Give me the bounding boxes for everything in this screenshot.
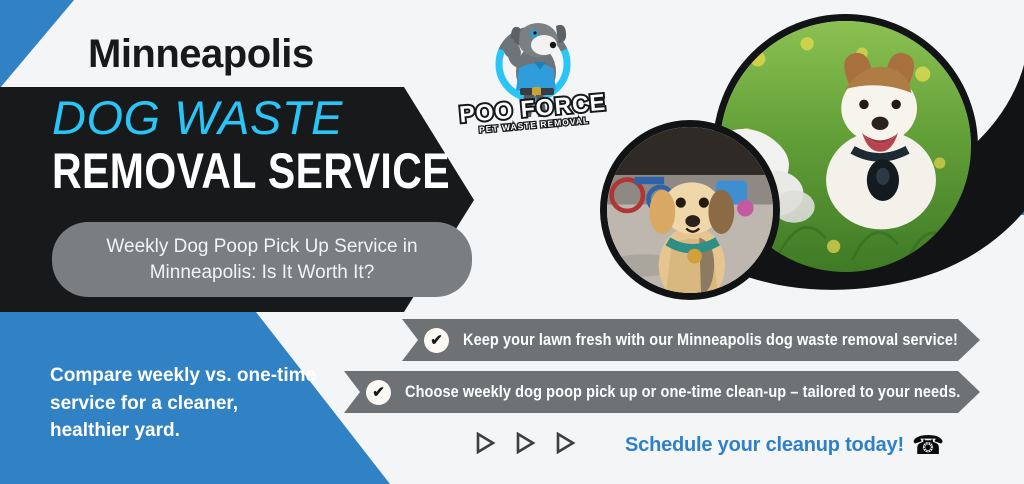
bullet-banner-2: ✔ Choose weekly dog poop pick up or one-…: [344, 371, 980, 413]
photo-goldendoodle-on-driveway: [600, 120, 780, 300]
blue-triangle-top-left: [0, 0, 74, 88]
telephone-icon[interactable]: ☎: [912, 432, 944, 458]
cta-label[interactable]: Schedule your cleanup today!: [625, 434, 904, 457]
logo-artwork: POO FORCE PET WASTE REMOVAL: [458, 12, 608, 134]
check-icon: ✔: [366, 380, 391, 405]
check-icon: ✔: [424, 328, 449, 353]
photo-artwork: [607, 127, 773, 293]
triangle-right-icon: [554, 432, 576, 454]
arrow-group: [474, 432, 576, 454]
page-title: Minneapolis: [88, 32, 314, 77]
tagline-text: Compare weekly vs. one-time service for …: [50, 362, 320, 445]
subtitle-pill: Weekly Dog Poop Pick Up Service in Minne…: [52, 222, 472, 297]
triangle-right-icon: [514, 432, 536, 454]
headline-line-2: REMOVAL SERVICE: [52, 146, 450, 196]
promo-banner: Minneapolis DOG WASTE REMOVAL SERVICE We…: [0, 0, 1024, 484]
bullet-text-1: Keep your lawn fresh with our Minneapoli…: [463, 331, 958, 350]
bullet-text-2: Choose weekly dog poop pick up or one-ti…: [405, 383, 960, 402]
triangle-right-icon: [474, 432, 496, 454]
bullet-banner-1: ✔ Keep your lawn fresh with our Minneapo…: [402, 319, 980, 361]
poo-force-logo[interactable]: POO FORCE PET WASTE REMOVAL: [458, 12, 608, 134]
cta-group[interactable]: Schedule your cleanup today! ☎: [625, 432, 944, 458]
